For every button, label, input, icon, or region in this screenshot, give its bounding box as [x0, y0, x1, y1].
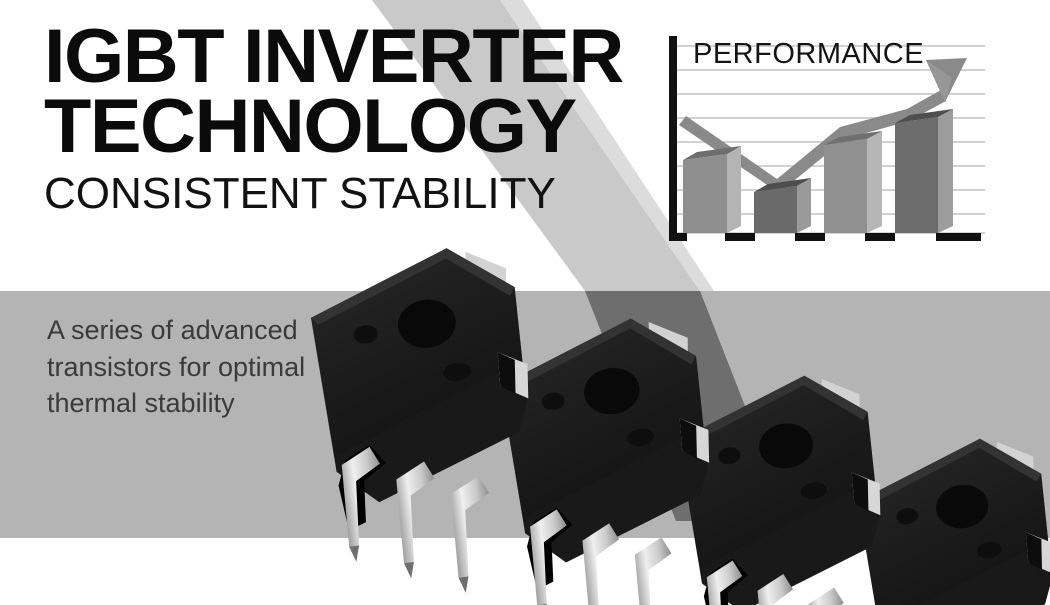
chart-bar-2: [754, 178, 811, 233]
bodycopy-block: A series of advanced transistors for opt…: [47, 312, 377, 422]
igbt-banner: IGBT INVERTER TECHNOLOGY CONSISTENT STAB…: [0, 0, 1050, 605]
headline-subtitle: CONSISTENT STABILITY: [44, 172, 664, 216]
bodycopy-line-3: thermal stability: [47, 385, 377, 422]
headline-line-2: TECHNOLOGY: [44, 92, 676, 162]
performance-bar-chart: PERFORMANCE: [655, 28, 985, 250]
headline-block: IGBT INVERTER TECHNOLOGY CONSISTENT STAB…: [44, 22, 664, 216]
chart-bar-1: [683, 146, 741, 233]
chart-title: PERFORMANCE: [693, 38, 924, 70]
chart-bar-3: [824, 131, 882, 233]
chart-x-axis: [669, 233, 981, 241]
background-band-bottom: [0, 538, 1050, 605]
bodycopy-line-1: A series of advanced: [47, 312, 377, 349]
headline-line-1: IGBT INVERTER: [44, 22, 676, 92]
bodycopy-line-2: transistors for optimal: [47, 349, 377, 386]
chart-bar-4: [895, 109, 953, 233]
